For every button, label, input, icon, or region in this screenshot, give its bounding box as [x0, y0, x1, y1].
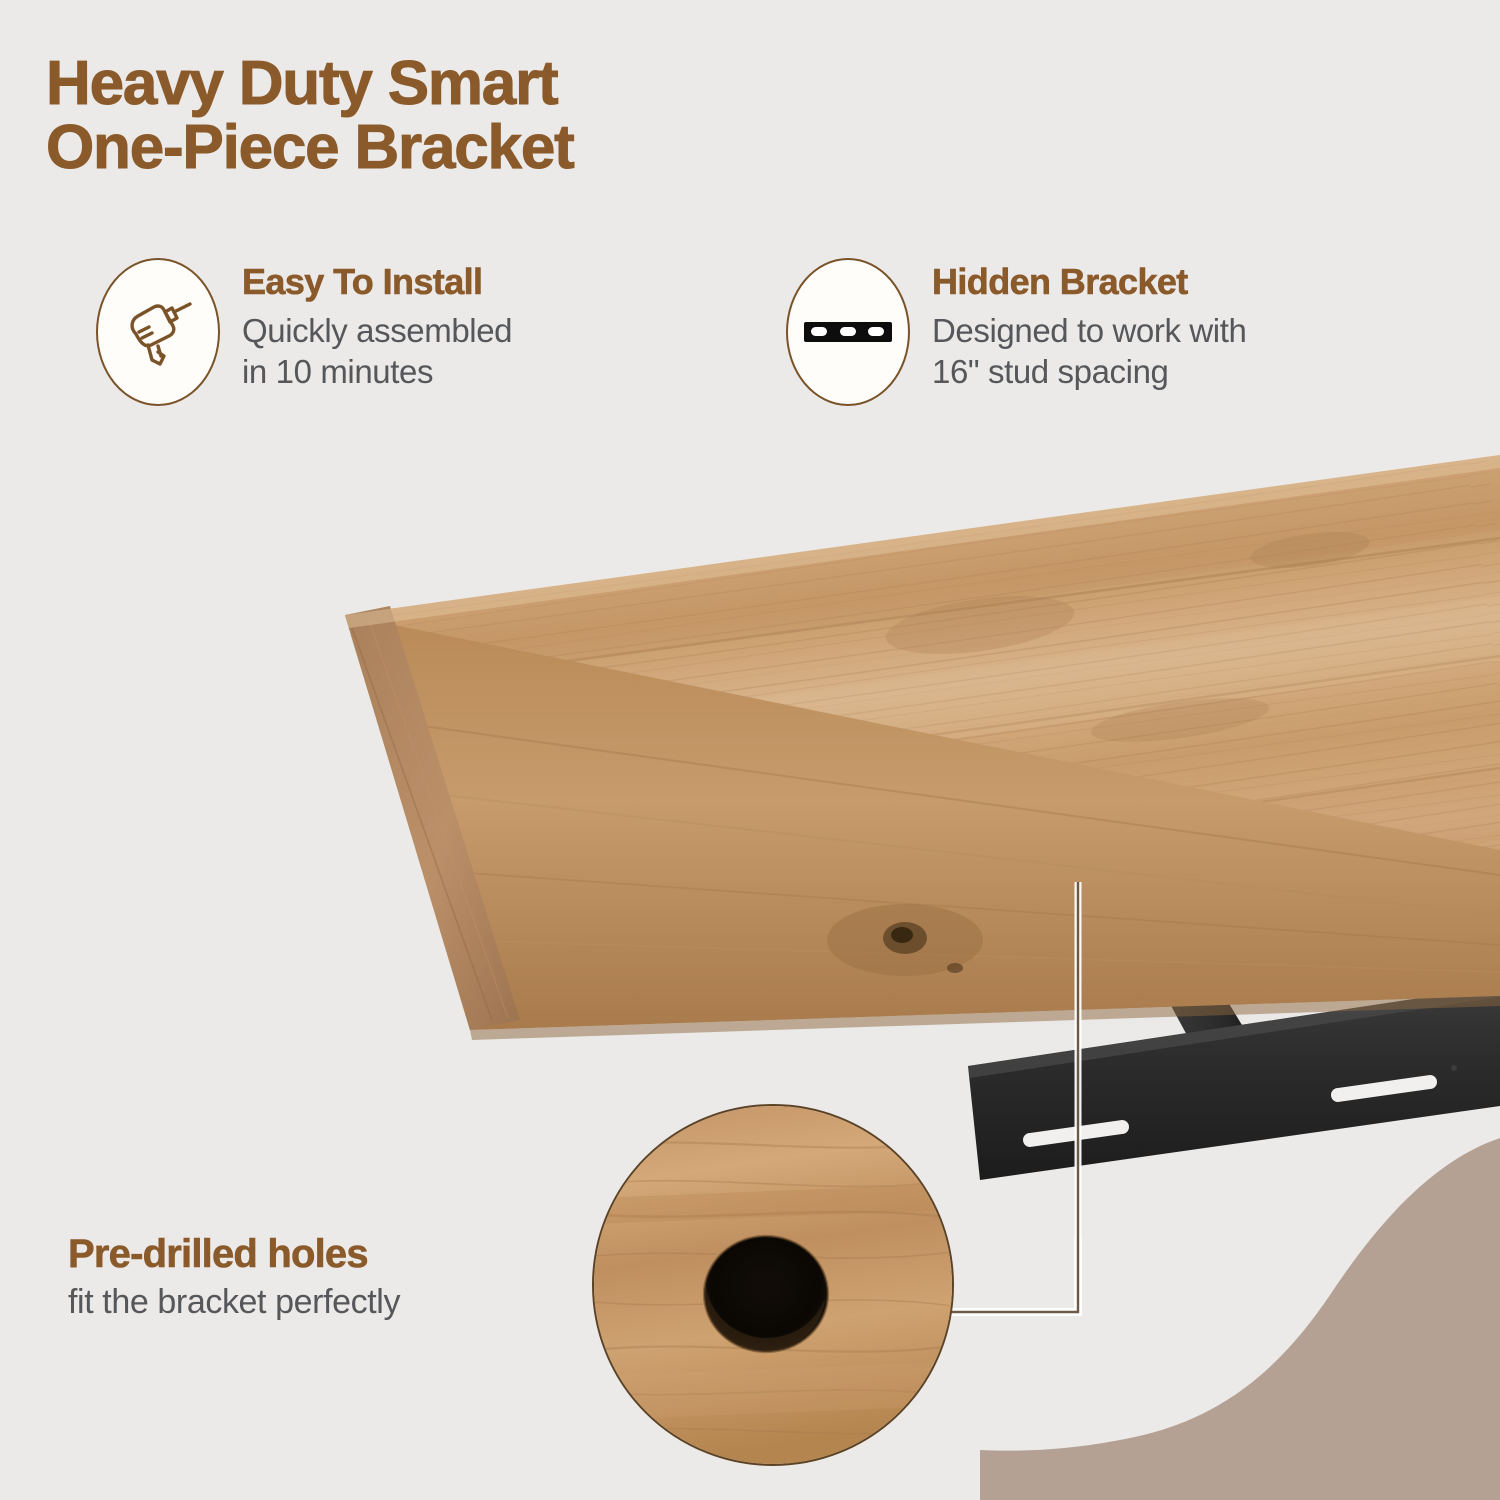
wall-bracket-icon [804, 322, 892, 342]
feature-text: Hidden Bracket Designed to work with 16"… [932, 258, 1246, 393]
bracket-slot [868, 327, 884, 336]
feature-icon-badge [96, 258, 220, 406]
inset-content [594, 1106, 952, 1464]
bracket-slot [811, 327, 827, 336]
feature-description: Designed to work with 16" stud spacing [932, 310, 1246, 393]
caption-subtitle: fit the bracket perfectly [68, 1283, 588, 1322]
bracket-pilot-mark [1451, 1065, 1457, 1071]
pre-drilled-caption: Pre-drilled holes fit the bracket perfec… [68, 1232, 588, 1322]
feature-title: Easy To Install [242, 262, 512, 302]
feature-title: Hidden Bracket [932, 262, 1246, 302]
headline-line-2: One-Piece Bracket [46, 116, 946, 180]
page-title: Heavy Duty Smart One-Piece Bracket [46, 52, 946, 181]
feature-text: Easy To Install Quickly assembled in 10 … [242, 258, 512, 393]
product-infographic: Heavy Duty Smart One-Piece Bracket Easy … [0, 0, 1500, 1500]
feature-icon-badge [786, 258, 910, 406]
headline-line-1: Heavy Duty Smart [46, 49, 557, 118]
bracket-slot [840, 327, 856, 336]
caption-title: Pre-drilled holes [68, 1232, 588, 1277]
feature-easy-to-install: Easy To Install Quickly assembled in 10 … [96, 258, 512, 406]
pre-drilled-hole-closeup [592, 1104, 954, 1466]
feature-hidden-bracket: Hidden Bracket Designed to work with 16"… [786, 258, 1246, 406]
feature-description: Quickly assembled in 10 minutes [242, 310, 512, 393]
drill-icon [116, 290, 200, 374]
